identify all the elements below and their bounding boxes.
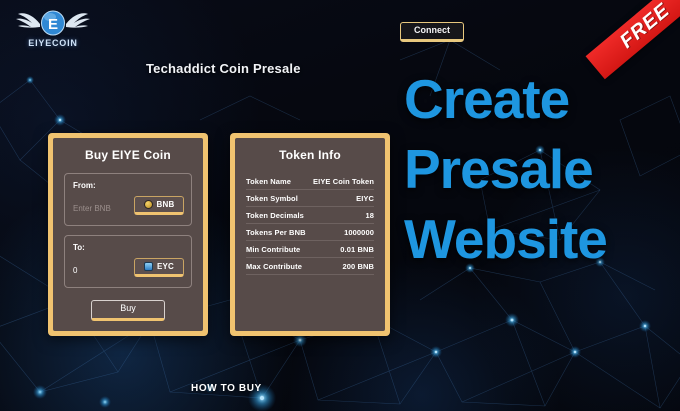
token-info-value: 200 BNB [342,262,374,271]
token-info-key: Max Contribute [246,262,302,271]
buy-button[interactable]: Buy [91,300,165,321]
connect-wallet-button[interactable]: Connect [400,22,464,42]
token-info-row: Min Contribute0.01 BNB [246,241,374,258]
headline-line-1: Create [404,64,680,134]
page-title: Techaddict Coin Presale [146,61,301,76]
token-info-row: Tokens Per BNB1000000 [246,224,374,241]
token-info-value: 0.01 BNB [340,245,374,254]
brand-logo-text: EIYECOIN [28,38,77,48]
from-amount-input[interactable]: Enter BNB [73,204,111,213]
page-root: E EIYECOIN Techaddict Coin Presale Conne… [0,0,680,411]
bnb-coin-icon [144,200,153,209]
how-to-buy-label: HOW TO BUY [191,383,262,394]
token-info-key: Tokens Per BNB [246,228,306,237]
headline-line-3: Website [404,204,680,274]
token-info-value: EIYC [356,194,374,203]
from-swap-box: From: Enter BNB BNB [64,173,192,226]
to-token-label: EYC [157,262,174,271]
from-token-selector[interactable]: BNB [134,196,184,215]
token-info-key: Token Name [246,177,291,186]
token-info-key: Min Contribute [246,245,300,254]
token-info-panel: Token Info Token NameEIYE Coin TokenToke… [230,133,390,336]
token-info-row-list: Token NameEIYE Coin TokenToken SymbolEIY… [246,173,374,275]
to-amount-value: 0 [73,266,77,275]
token-info-value: 1000000 [344,228,374,237]
from-token-label: BNB [157,200,175,209]
to-token-selector[interactable]: EYC [134,258,184,277]
headline-line-2: Presale [404,134,680,204]
token-info-key: Token Symbol [246,194,298,203]
marketing-headline: Create Presale Website [404,64,680,274]
token-info-row: Token SymbolEIYC [246,190,374,207]
buy-panel-inner: Buy EIYE Coin From: Enter BNB BNB To: 0 … [53,138,203,331]
token-info-key: Token Decimals [246,211,304,220]
buy-panel: Buy EIYE Coin From: Enter BNB BNB To: 0 … [48,133,208,336]
token-info-row: Token NameEIYE Coin Token [246,173,374,190]
buy-panel-title: Buy EIYE Coin [64,148,192,162]
token-info-value: 18 [365,211,374,220]
token-info-title: Token Info [246,148,374,162]
eyc-coin-icon [144,262,153,271]
token-info-row: Token Decimals18 [246,207,374,224]
svg-text:E: E [48,16,58,33]
brand-logo[interactable]: E EIYECOIN [14,8,92,56]
token-info-panel-inner: Token Info Token NameEIYE Coin TokenToke… [235,138,385,331]
to-label: To: [73,243,183,252]
winged-e-emblem-icon: E [14,8,92,40]
to-swap-box: To: 0 EYC [64,235,192,288]
token-info-value: EIYE Coin Token [313,177,374,186]
token-info-row: Max Contribute200 BNB [246,258,374,275]
from-label: From: [73,181,183,190]
